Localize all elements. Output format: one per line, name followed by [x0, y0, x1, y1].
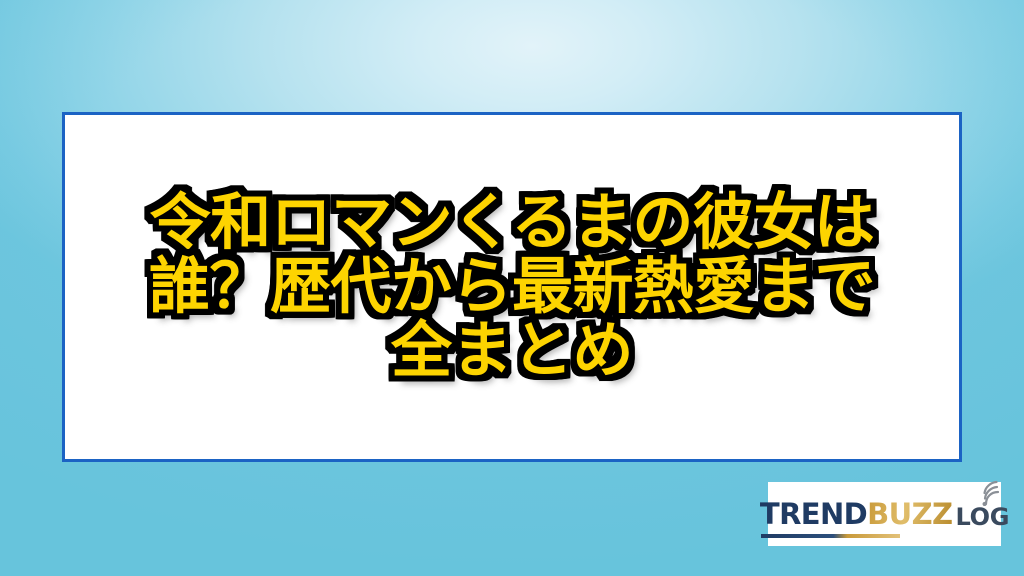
headline-line-3: 全まとめ	[149, 320, 875, 382]
logo-badge[interactable]: TREND BUZZ LOG	[768, 482, 1001, 546]
signal-waves-icon	[980, 480, 1010, 506]
logo-wordmark: TREND BUZZ LOG	[760, 497, 1009, 531]
headline-line-1: 令和ロマンくるまの彼女は	[149, 192, 875, 254]
thumbnail-canvas: 令和ロマンくるまの彼女は 誰？歴代から最新熱愛まで 全まとめ TREND BUZ…	[0, 0, 1024, 576]
headline: 令和ロマンくるまの彼女は 誰？歴代から最新熱愛まで 全まとめ	[135, 190, 889, 385]
logo-text-buzz: BUZZ	[867, 497, 952, 531]
logo-text-trend: TREND	[760, 497, 867, 531]
logo-underline-bar	[761, 534, 900, 538]
logo-inner: TREND BUZZ LOG	[756, 497, 1013, 531]
headline-line-2: 誰？歴代から最新熱愛まで	[149, 256, 875, 318]
title-card: 令和ロマンくるまの彼女は 誰？歴代から最新熱愛まで 全まとめ	[62, 112, 962, 462]
logo-text-log: LOG	[955, 503, 1009, 531]
